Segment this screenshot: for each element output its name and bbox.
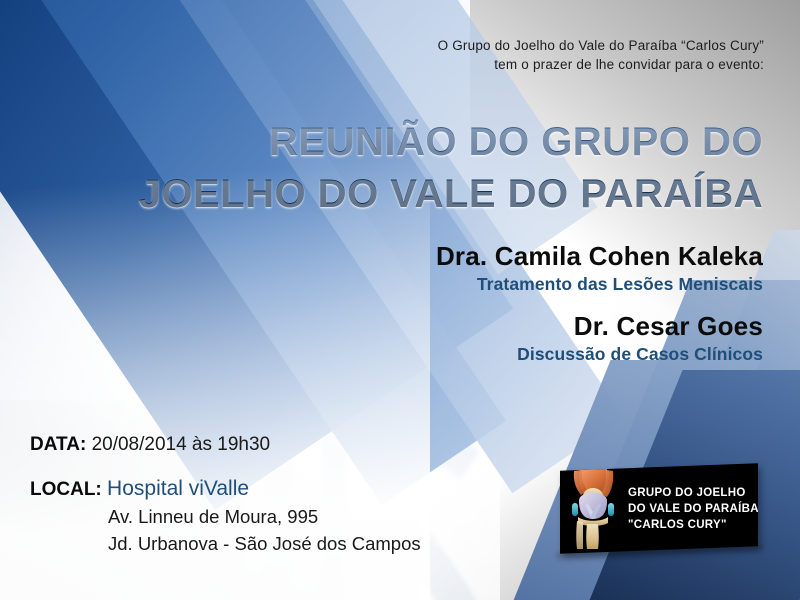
date-value: 20/08/2014 às 19h30 bbox=[92, 434, 271, 455]
speakers-list: Dra. Camila Cohen Kaleka Tratamento das … bbox=[263, 240, 763, 380]
logo-line-3: "CARLOS CURY" bbox=[628, 517, 758, 533]
event-title-line-2: JOELHO DO VALE DO PARAÍBA bbox=[23, 168, 763, 220]
header-line-2: tem o prazer de lhe convidar para o even… bbox=[330, 55, 764, 74]
speaker-name: Dr. Cesar Goes bbox=[263, 310, 763, 342]
logo-text-block: GRUPO DO JOELHO DO VALE DO PARAÍBA "CARL… bbox=[628, 485, 758, 533]
speaker-topic: Tratamento das Lesões Meniscais bbox=[263, 272, 763, 296]
speaker-name: Dra. Camila Cohen Kaleka bbox=[263, 240, 763, 272]
event-date-row: DATA: 20/08/2014 às 19h30 bbox=[30, 432, 500, 458]
invitation-header: O Grupo do Joelho do Vale do Paraíba “Ca… bbox=[330, 36, 764, 74]
header-line-1: O Grupo do Joelho do Vale do Paraíba “Ca… bbox=[330, 36, 764, 55]
speaker-topic: Discussão de Casos Clínicos bbox=[263, 342, 763, 366]
logo-line-1: GRUPO DO JOELHO bbox=[628, 485, 758, 501]
logo-line-2: DO VALE DO PARAÍBA bbox=[628, 501, 758, 517]
group-logo: GRUPO DO JOELHO DO VALE DO PARAÍBA "CARL… bbox=[560, 463, 758, 554]
address-line-2: Jd. Urbanova - São José dos Campos bbox=[30, 530, 500, 557]
place-value: Hospital viValle bbox=[107, 477, 249, 500]
address-line-1: Av. Linneu de Moura, 995 bbox=[30, 503, 500, 530]
event-title: REUNIÃO DO GRUPO DO JOELHO DO VALE DO PA… bbox=[23, 116, 763, 220]
event-title-line-1: REUNIÃO DO GRUPO DO bbox=[23, 116, 763, 168]
knee-anatomy-illustration bbox=[562, 469, 624, 549]
event-place-row: LOCAL: Hospital viValle bbox=[30, 476, 500, 503]
place-label: LOCAL: bbox=[30, 479, 102, 500]
event-details: DATA: 20/08/2014 às 19h30 LOCAL: Hospita… bbox=[30, 432, 500, 557]
event-invitation-poster: O Grupo do Joelho do Vale do Paraíba “Ca… bbox=[0, 0, 800, 600]
date-label: DATA: bbox=[30, 434, 86, 455]
